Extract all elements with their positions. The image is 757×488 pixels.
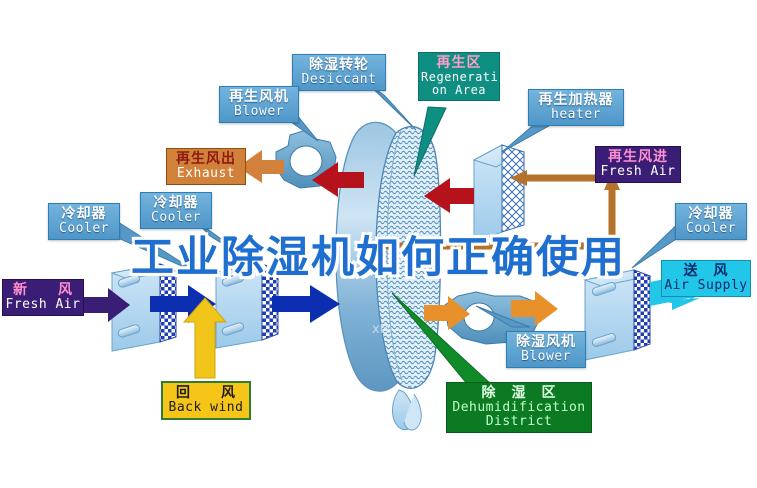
label-desiccant-en: Desiccant: [295, 73, 383, 87]
label-dehum-district-en-line2: District: [449, 415, 589, 429]
label-fresh-air-in-en: Fresh Air: [5, 298, 81, 312]
label-regen-blower-cn: 再生风机: [222, 90, 296, 105]
svg-text:xts: xts: [372, 322, 392, 337]
label-dehum-blower[interactable]: 除湿风机 Blower: [506, 331, 586, 368]
label-fresh-air-regen-cn: 再生风进: [598, 150, 678, 165]
label-back-wind-cn: 回 风: [165, 386, 247, 401]
rotor-belt: [392, 390, 421, 430]
label-regen-area-en-line2: on Area: [421, 84, 497, 97]
label-regen-heater[interactable]: 再生加热器 heater: [528, 89, 624, 126]
label-dehum-district[interactable]: 除 湿 区 Dehumidification District: [446, 382, 592, 433]
label-exhaust[interactable]: 再生风出 Exhaust: [166, 148, 246, 185]
label-fresh-air-regen[interactable]: 再生风进 Fresh Air: [595, 146, 681, 183]
label-fresh-air-regen-en: Fresh Air: [598, 165, 678, 179]
label-dehum-blower-cn: 除湿风机: [509, 335, 583, 350]
label-back-wind-en: Back wind: [165, 401, 247, 415]
label-regen-heater-en: heater: [531, 108, 621, 122]
label-regen-blower-en: Blower: [222, 105, 296, 119]
label-regen-heater-cn: 再生加热器: [531, 93, 621, 108]
title-overlay: 工业除湿机如何正确使用: [0, 226, 757, 282]
label-cooler-left-1-cn: 冷却器: [51, 207, 117, 222]
label-regen-blower[interactable]: 再生风机 Blower: [219, 86, 299, 123]
label-cooler-left-2-cn: 冷却器: [143, 196, 209, 211]
label-regen-area[interactable]: 再生区 Regenerati on Area: [418, 52, 500, 101]
label-fresh-air-in-cn: 新 风: [5, 283, 81, 298]
label-exhaust-en: Exhaust: [169, 167, 243, 181]
label-desiccant-cn: 除湿转轮: [295, 58, 383, 73]
diagram-canvas: xts: [0, 0, 757, 488]
label-dehum-blower-en: Blower: [509, 350, 583, 364]
label-dehum-district-en-line1: Dehumidification: [449, 401, 589, 415]
label-dehum-district-cn: 除 湿 区: [449, 386, 589, 401]
label-regen-area-cn: 再生区: [421, 56, 497, 71]
label-back-wind[interactable]: 回 风 Back wind: [161, 381, 251, 420]
label-desiccant[interactable]: 除湿转轮 Desiccant: [292, 54, 386, 91]
label-cooler-right-cn: 冷却器: [678, 207, 744, 222]
label-fresh-air-in[interactable]: 新 风 Fresh Air: [2, 279, 84, 316]
label-exhaust-cn: 再生风出: [169, 152, 243, 167]
process-arrow-2: [272, 285, 340, 323]
